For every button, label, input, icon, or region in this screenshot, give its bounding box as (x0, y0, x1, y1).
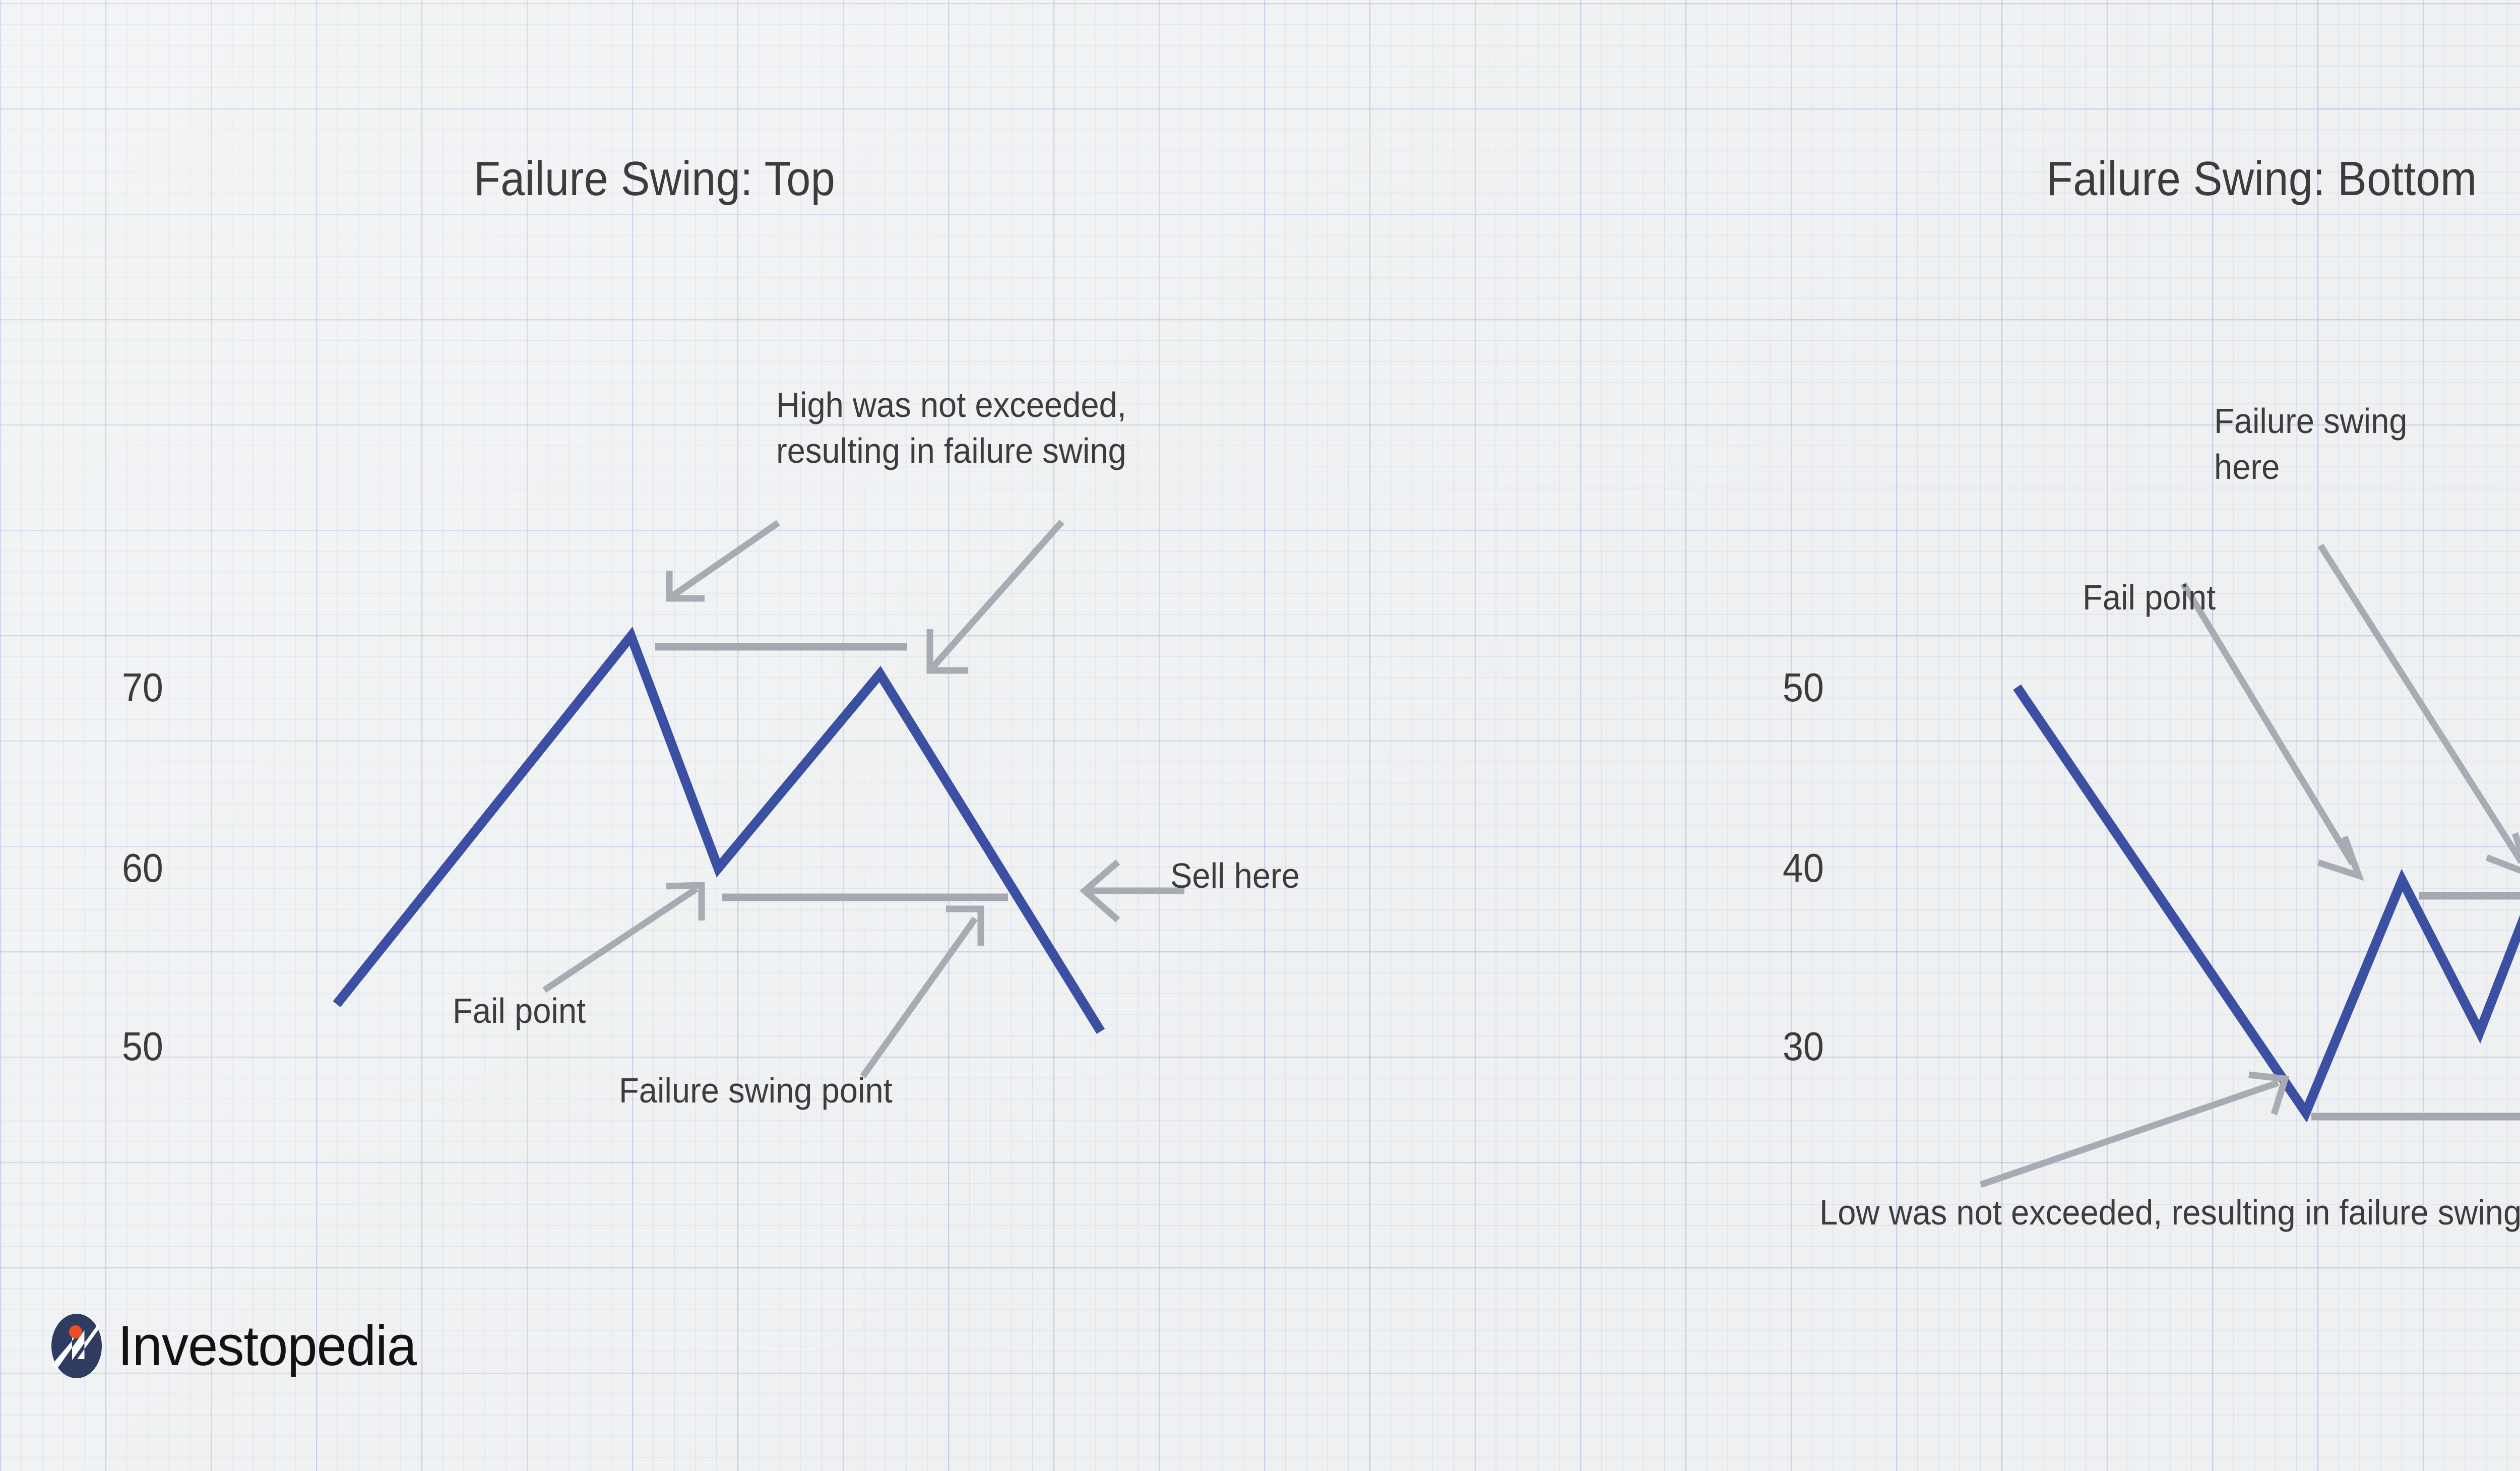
annotation-sell-here: Sell here (1170, 853, 1300, 899)
leader-line-failure-swing-point (863, 918, 975, 1076)
investopedia-mark-icon (48, 1313, 105, 1379)
diagram-stage: .pl{fill:none;stroke:#3b4fa3;stroke-widt… (0, 0, 2520, 1471)
leader-line-low-not-exceeded-a (1981, 1083, 2278, 1185)
axis-label-top-70: 70 (122, 664, 163, 711)
leader-line-fail-point-top (544, 889, 697, 990)
chart-title-top: Failure Swing: Top (474, 151, 835, 207)
axis-label-bottom-30: 30 (1783, 1023, 1824, 1070)
leader-line-high-not-exceeded-b (933, 522, 1062, 666)
leader-line-fail-point-bottom (2183, 584, 2353, 864)
investopedia-wordmark: Investopedia (118, 1318, 416, 1374)
leader-line-failure-swing-here (2320, 545, 2520, 862)
annotation-failure-swing-here: Failure swing here (2214, 398, 2408, 490)
annotation-fail-point-bottom: Fail point (2083, 575, 2216, 621)
diagram-vector-layer: .pl{fill:none;stroke:#3b4fa3;stroke-widt… (0, 0, 2520, 1471)
chart-title-bottom: Failure Swing: Bottom (2046, 151, 2477, 207)
annotation-low-not-exceeded: Low was not exceeded, resulting in failu… (1819, 1190, 2520, 1236)
axis-label-top-60: 60 (122, 845, 163, 891)
annotation-failure-swing-point: Failure swing point (619, 1068, 893, 1114)
axis-label-top-50: 50 (122, 1023, 163, 1070)
price-line-bottom (2017, 552, 2520, 1113)
leader-line-high-not-exceeded-a (670, 523, 778, 597)
price-line-top (337, 636, 1101, 1031)
annotation-high-not-exceeded: High was not exceeded, resulting in fail… (776, 382, 1126, 474)
annotation-fail-point-top: Fail point (453, 988, 586, 1034)
investopedia-logo: Investopedia (48, 1313, 432, 1379)
axis-label-bottom-40: 40 (1783, 845, 1824, 891)
axis-label-bottom-50: 50 (1783, 664, 1824, 711)
